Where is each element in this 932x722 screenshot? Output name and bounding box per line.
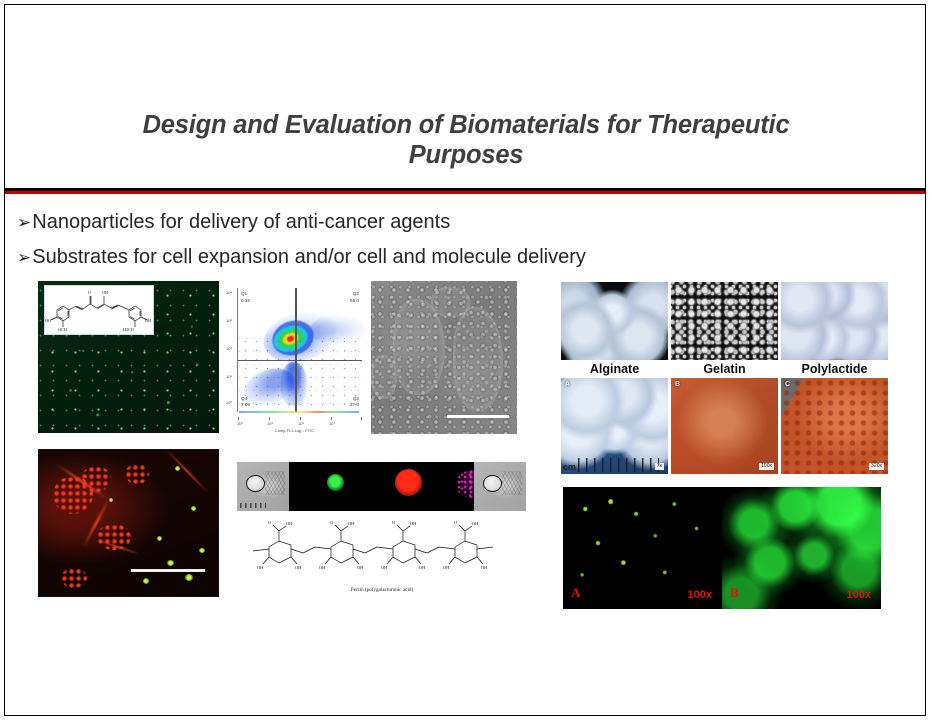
- arrow-bullet-icon: ➢: [17, 215, 31, 232]
- svg-text:OH: OH: [319, 565, 326, 570]
- bacterial-colony: [61, 568, 87, 588]
- flow-y-tick-0: 10⁴: [226, 290, 232, 295]
- label-gelatin: Gelatin: [671, 360, 778, 378]
- flow-y-tick-2: 10²: [226, 346, 232, 351]
- ruler-ticks: [578, 458, 659, 472]
- figure-curcumin-fluorescence: O OH HO OCH OH H3CO: [38, 281, 219, 433]
- fluorescence-channels: [289, 462, 474, 511]
- slide-title-block: Design and Evaluation of Biomaterials fo…: [5, 110, 926, 170]
- flow-x-tick-2: 10²: [298, 421, 304, 426]
- magnification-a: 7x: [655, 463, 664, 471]
- flow-spectrum-strip: [239, 411, 359, 413]
- svg-text:O: O: [268, 520, 271, 525]
- scale-bar: [240, 503, 266, 508]
- green-cell: [109, 498, 113, 502]
- quadrant-label-q4: Q4 7.09: [241, 396, 250, 409]
- flow-x-axis-caption: Comp-FL1-Log :: FITC: [223, 428, 366, 433]
- figure-imaging-flow-channel-strip: [237, 462, 526, 511]
- fluorescence-panel-b: B 100x: [722, 487, 881, 609]
- svg-text:OH: OH: [348, 521, 355, 526]
- divider-rule-red: [5, 191, 926, 194]
- red-channel-signal: [395, 469, 422, 496]
- arrow-bullet-icon: ➢: [17, 250, 31, 267]
- bullet-text: Nanoparticles for delivery of anti-cance…: [32, 211, 450, 234]
- svg-text:OH: OH: [481, 565, 488, 570]
- svg-text:OH: OH: [145, 318, 151, 323]
- scale-bar: [447, 415, 509, 418]
- svg-text:OH: OH: [102, 290, 108, 295]
- bacterial-colony: [97, 524, 131, 550]
- pectin-caption: Pectin (polygalacturonic acid): [253, 587, 511, 593]
- cell-colony: [371, 355, 397, 399]
- panel-tag-b: B: [730, 585, 739, 601]
- quadrant-label-q3: Q3 27.6: [350, 396, 359, 409]
- quadrant-label-q2: Q2 65.0: [350, 291, 359, 304]
- panel-tag-b: B: [675, 381, 680, 388]
- bullet-item-substrates: ➢ Substrates for cell expansion and/or c…: [17, 246, 586, 269]
- cell-outline: [483, 475, 502, 492]
- microsphere-labels: Alginate Gelatin Polylactide: [561, 360, 889, 378]
- green-cell: [157, 536, 162, 541]
- bullet-text: Substrates for cell expansion and/or cel…: [32, 246, 586, 269]
- micrograph-panel-b: B 100x: [671, 378, 778, 474]
- svg-text:O: O: [392, 520, 395, 525]
- figure-pectin-structure: OOH OOH OOH OOH OHOH OHOH OHOH OHOH Pect…: [253, 517, 511, 595]
- figure-red-green-fluorescence: [38, 449, 219, 597]
- magnification-b: 100x: [759, 463, 774, 471]
- mesh-texture: [502, 471, 522, 495]
- svg-text:O: O: [330, 520, 333, 525]
- micrograph-panel-c: C 320x: [781, 378, 888, 474]
- flow-event-noise: [238, 288, 362, 412]
- panel-tag-a: A: [571, 585, 580, 601]
- green-cell: [199, 548, 205, 553]
- microsphere-top-row: [561, 282, 888, 360]
- svg-text:OH: OH: [472, 521, 479, 526]
- magnification-c: 320x: [869, 463, 884, 471]
- cell-colony: [431, 287, 471, 317]
- magnification-b: 100x: [847, 589, 871, 601]
- mesh-texture: [265, 471, 285, 495]
- green-channel-signal: [327, 474, 344, 491]
- flow-x-tick-0: 10⁰: [237, 421, 243, 426]
- quadrant-label-q1: Q1 0.15: [241, 291, 250, 304]
- figure-flow-cytometry-dotplot: Q1 0.15 Q2 65.0 Q3 27.6 Q4 7.09 10⁰ 10¹ …: [223, 282, 366, 434]
- svg-text:OH: OH: [286, 521, 293, 526]
- svg-text:OCH: OCH: [58, 327, 67, 332]
- curcumin-structure-inset: O OH HO OCH OH H3CO: [44, 285, 154, 335]
- figure-microsphere-gallery: Alginate Gelatin Polylactide A cm 7x B 1…: [561, 282, 889, 474]
- filament: [165, 449, 208, 493]
- flow-plot-area: Q1 0.15 Q2 65.0 Q3 27.6 Q4 7.09: [238, 288, 362, 412]
- page-title: Design and Evaluation of Biomaterials fo…: [5, 110, 926, 170]
- cm-label: cm: [563, 463, 576, 472]
- svg-text:O: O: [88, 290, 91, 295]
- quadrant-divider-vertical: [295, 288, 297, 412]
- svg-text:OH: OH: [419, 565, 426, 570]
- cm-ruler: cm: [563, 455, 659, 472]
- micrograph-polylactide: [781, 282, 888, 360]
- fluorescence-panel-a: A 100x: [563, 487, 722, 609]
- svg-text:HO: HO: [45, 318, 51, 323]
- cell-colony: [453, 307, 503, 411]
- svg-text:OH: OH: [295, 565, 302, 570]
- flow-y-tick-4: 10⁰: [226, 400, 232, 405]
- curcumin-skeletal-formula-icon: O OH HO OCH OH H3CO: [45, 286, 153, 334]
- green-cell: [185, 574, 193, 581]
- quadrant-divider-horizontal: [238, 360, 362, 362]
- panel-tag-a: A: [565, 381, 570, 388]
- svg-text:OH: OH: [357, 565, 364, 570]
- figure-green-fluorescence-ab: A 100x B 100x: [563, 487, 881, 609]
- svg-text:OH: OH: [381, 565, 388, 570]
- pectin-skeletal-formula-icon: OOH OOH OOH OOH OHOH OHOH OHOH OHOH: [253, 517, 511, 581]
- bullet-item-nanoparticles: ➢ Nanoparticles for delivery of anti-can…: [17, 211, 450, 234]
- scale-bar: [131, 569, 205, 572]
- svg-text:OH: OH: [257, 565, 264, 570]
- micrograph-alginate: [561, 282, 668, 360]
- figure-phase-contrast-cells: [371, 281, 517, 434]
- green-cell: [167, 560, 174, 566]
- flow-x-tick-3: 10³: [329, 421, 335, 426]
- brightfield-channel-right: [474, 462, 526, 511]
- micrograph-panel-a: A cm 7x: [561, 378, 668, 474]
- brightfield-channel-left: [237, 462, 289, 511]
- flow-x-tick-1: 10¹: [267, 421, 273, 426]
- svg-text:OH: OH: [410, 521, 417, 526]
- bacterial-colony: [125, 464, 149, 484]
- green-cell: [191, 506, 196, 511]
- green-cell: [175, 466, 180, 471]
- svg-text:OH: OH: [443, 565, 450, 570]
- microsphere-bottom-row: A cm 7x B 100x C 320x: [561, 378, 888, 474]
- magnification-a: 100x: [688, 589, 712, 601]
- panel-tag-c: C: [785, 381, 790, 388]
- bacterial-colony: [81, 466, 111, 492]
- svg-text:O: O: [454, 520, 457, 525]
- flow-y-tick-1: 10³: [226, 318, 232, 323]
- flow-y-tick-3: 10¹: [226, 374, 232, 379]
- green-cell: [143, 578, 149, 584]
- label-polylactide: Polylactide: [781, 360, 888, 378]
- cell-outline: [246, 475, 265, 492]
- micrograph-gelatin: [671, 282, 778, 360]
- label-alginate: Alginate: [561, 360, 668, 378]
- svg-text:H3CO: H3CO: [123, 327, 134, 332]
- flow-x-ticks: [238, 414, 362, 420]
- slide-canvas: Design and Evaluation of Biomaterials fo…: [4, 4, 926, 716]
